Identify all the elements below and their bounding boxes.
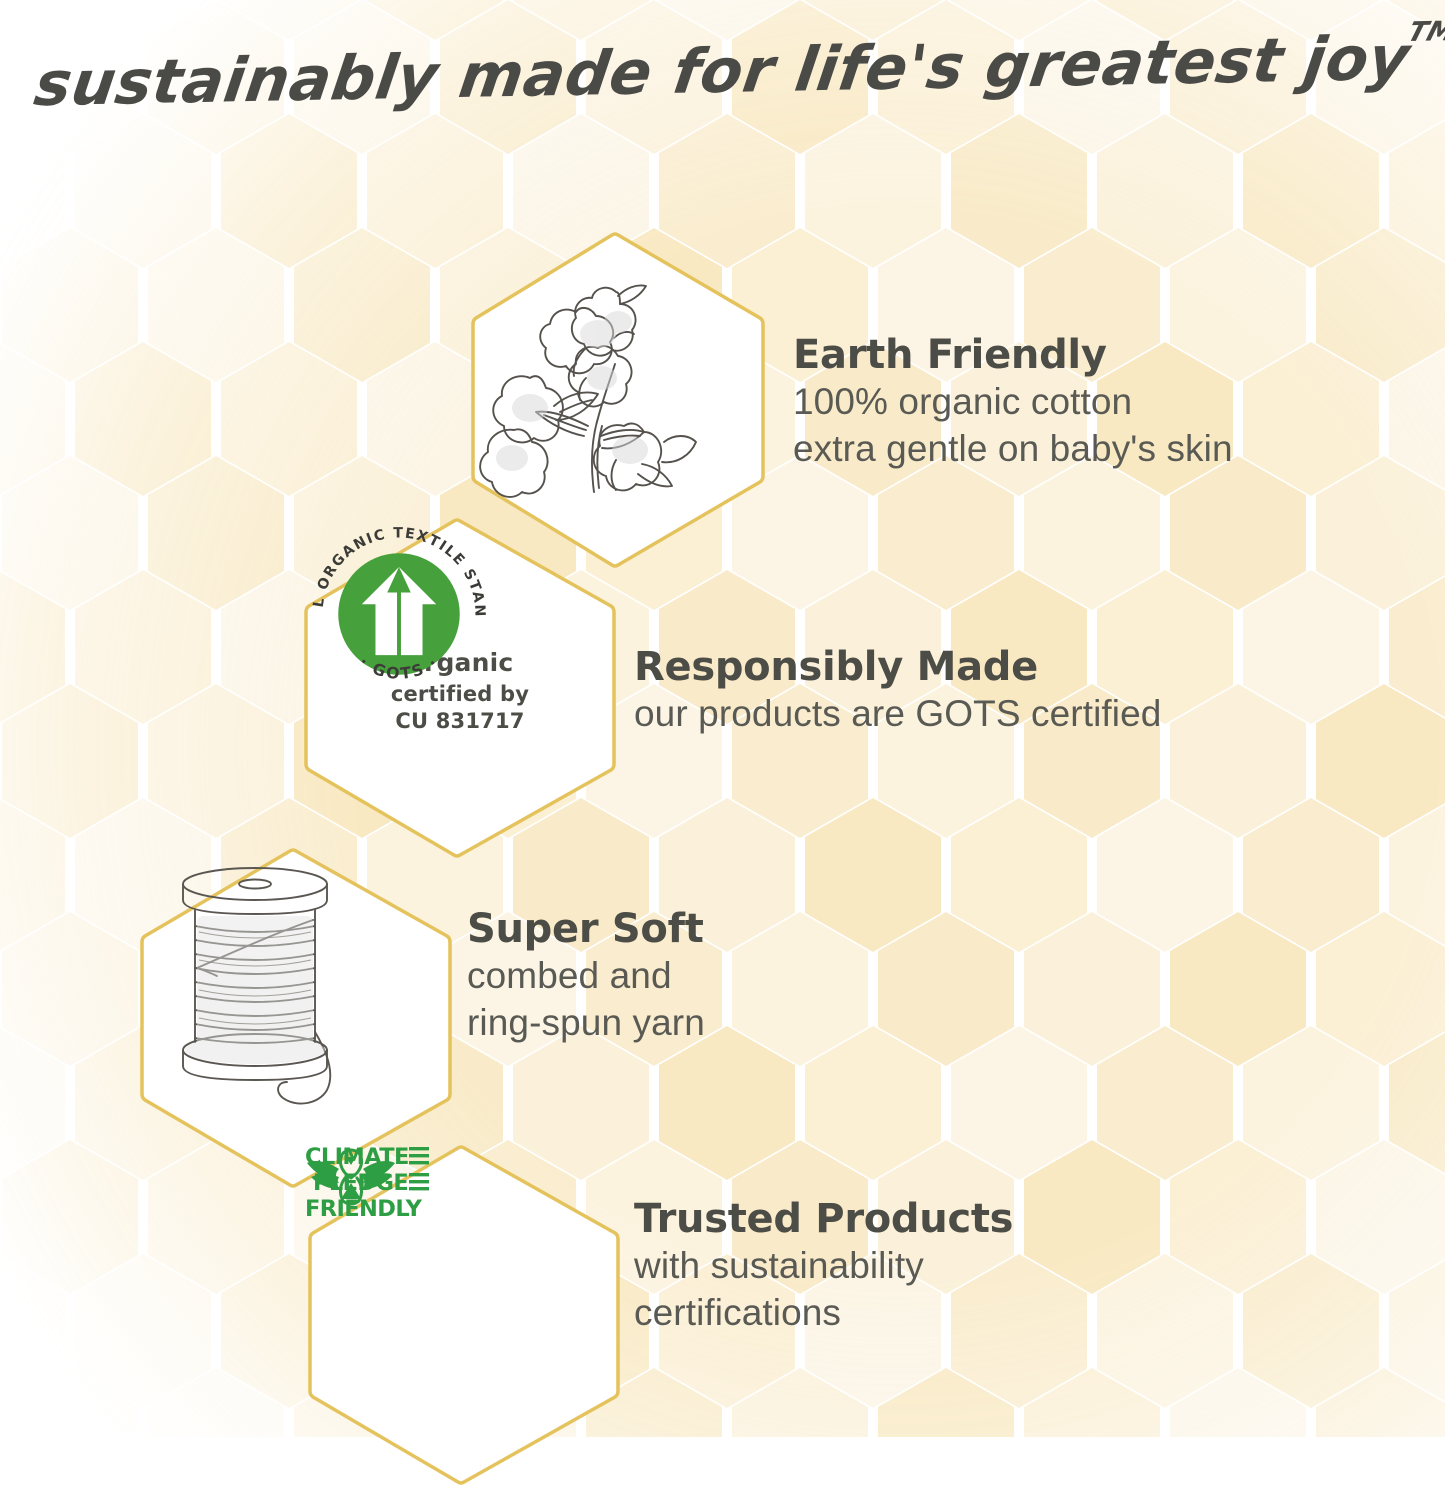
headline-text: sustainably made for life's greatest joy	[30, 23, 1414, 120]
feature-title-super-soft: Super Soft	[467, 907, 705, 952]
cotton-plant-sketch-icon	[468, 230, 718, 500]
feature-line-trusted-products-2: certifications	[634, 1289, 1013, 1336]
feature-title-earth-friendly: Earth Friendly	[793, 333, 1233, 378]
feature-line-super-soft-1: combed and	[467, 952, 705, 999]
feature-text-earth-friendly: Earth Friendly 100% organic cotton extra…	[793, 333, 1233, 473]
feature-text-super-soft: Super Soft combed and ring-spun yarn	[467, 907, 705, 1047]
thread-spool-sketch-icon	[137, 846, 387, 1116]
gots-certification-badge-icon: GLOBAL ORGANIC TEXTILE STANDARD · GOTS ·…	[391, 642, 529, 734]
page-headline: sustainably made for life's greatest joy…	[30, 23, 1414, 120]
trademark-symbol: TM	[1404, 16, 1445, 48]
feature-line-super-soft-2: ring-spun yarn	[467, 999, 705, 1046]
headline-container: sustainably made for life's greatest joy…	[0, 36, 1445, 107]
feature-hexagon-trusted-products: CLIMATE PLEDGE FRIENDLY	[305, 1143, 623, 1487]
feature-title-responsibly-made: Responsibly Made	[634, 645, 1161, 690]
feature-line-trusted-products-1: with sustainability	[634, 1242, 1013, 1289]
feature-line-earth-friendly-2: extra gentle on baby's skin	[793, 425, 1233, 472]
feature-hexagon-responsibly-made: GLOBAL ORGANIC TEXTILE STANDARD · GOTS ·…	[301, 516, 619, 860]
feature-hexagon-super-soft	[137, 846, 455, 1190]
feature-text-trusted-products: Trusted Products with sustainability cer…	[634, 1197, 1013, 1337]
feature-text-responsibly-made: Responsibly Made our products are GOTS c…	[634, 645, 1161, 737]
feature-title-trusted-products: Trusted Products	[634, 1197, 1013, 1242]
feature-line-earth-friendly-1: 100% organic cotton	[793, 378, 1233, 425]
feature-line-responsibly-made-1: our products are GOTS certified	[634, 690, 1161, 737]
winged-hourglass-icon	[305, 1143, 397, 1213]
gots-seal-icon: GLOBAL ORGANIC TEXTILE STANDARD · GOTS ·	[301, 516, 497, 712]
